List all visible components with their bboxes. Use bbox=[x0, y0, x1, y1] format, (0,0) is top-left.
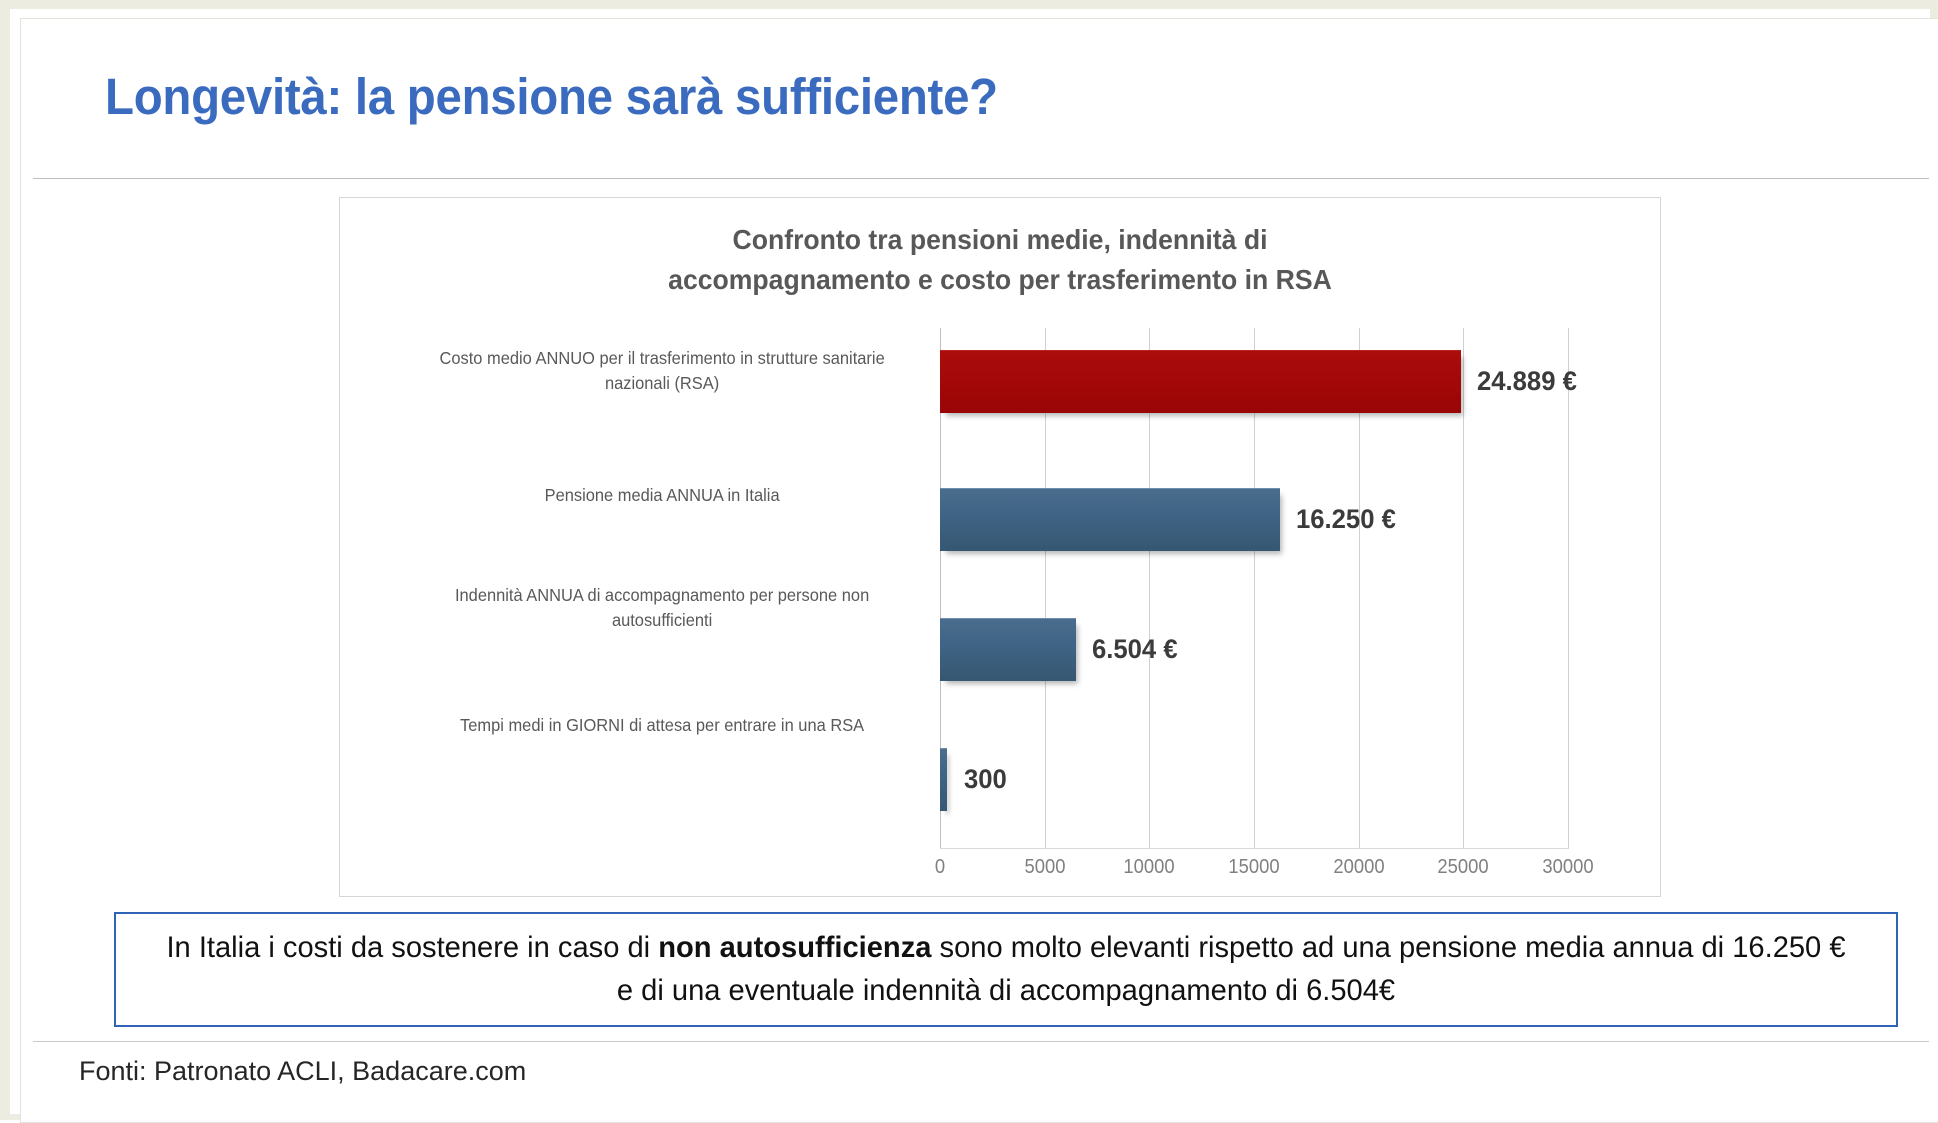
xtick-3: 15000 bbox=[1228, 856, 1279, 879]
category-label-line-2: autosufficienti bbox=[394, 608, 930, 633]
callout-text-before: In Italia i costi da sostenere in caso d… bbox=[166, 931, 658, 964]
slide-sheet: Longevità: la pensione sarà sufficiente?… bbox=[20, 18, 1938, 1123]
xtick-0: 0 bbox=[935, 856, 945, 879]
chart-title: Confronto tra pensioni medie, indennità … bbox=[430, 220, 1570, 300]
title-band: Longevità: la pensione sarà sufficiente? bbox=[33, 21, 1929, 179]
category-label-line-1: Pensione media ANNUA in Italia bbox=[394, 483, 930, 508]
gridline-30000 bbox=[1568, 328, 1569, 848]
category-label-line-1: Indennità ANNUA di accompagnamento per p… bbox=[394, 583, 930, 608]
callout-text-bold: non autosufficienza bbox=[658, 931, 931, 964]
slide-frame: Longevità: la pensione sarà sufficiente?… bbox=[0, 0, 1938, 1120]
bar-1[interactable] bbox=[940, 488, 1280, 551]
chart-title-line-1: Confronto tra pensioni medie, indennità … bbox=[430, 220, 1570, 260]
bar-value-2: 6.504 € bbox=[1092, 634, 1178, 665]
footer-sources: Fonti: Patronato ACLI, Badacare.com bbox=[79, 1056, 526, 1087]
xtick-5: 25000 bbox=[1438, 856, 1489, 879]
category-label-line-2: nazionali (RSA) bbox=[394, 371, 930, 396]
bar-0[interactable] bbox=[940, 350, 1461, 413]
chart-title-line-2: accompagnamento e costo per trasferiment… bbox=[430, 260, 1570, 300]
bar-value-0: 24.889 € bbox=[1477, 366, 1577, 397]
category-label-line-1: Tempi medi in GIORNI di attesa per entra… bbox=[394, 713, 930, 738]
xtick-2: 10000 bbox=[1124, 856, 1175, 879]
chart-category-axis: Costo medio ANNUO per il trasferimento i… bbox=[348, 328, 940, 848]
chart-x-axis-line bbox=[940, 848, 1569, 849]
chart-category-label-1: Pensione media ANNUA in Italia bbox=[394, 483, 930, 508]
chart-category-label-2: Indennità ANNUA di accompagnamento per p… bbox=[394, 583, 930, 634]
callout-text: In Italia i costi da sostenere in caso d… bbox=[162, 927, 1850, 1012]
category-label-line-1: Costo medio ANNUO per il trasferimento i… bbox=[394, 346, 930, 371]
page-title: Longevità: la pensione sarà sufficiente? bbox=[105, 67, 998, 126]
xtick-4: 20000 bbox=[1333, 856, 1384, 879]
chart-x-tick-labels: 0 5000 10000 15000 20000 25000 30000 bbox=[940, 856, 1569, 890]
bar-3[interactable] bbox=[940, 748, 947, 811]
chart-bars-area: 24.889 € 16.250 € 6.504 € 300 bbox=[940, 328, 1568, 848]
chart-plot-area: Costo medio ANNUO per il trasferimento i… bbox=[340, 328, 1662, 896]
gridline-25000 bbox=[1463, 328, 1464, 848]
chart-container: Confronto tra pensioni medie, indennità … bbox=[339, 197, 1661, 897]
footer-divider bbox=[33, 1041, 1929, 1042]
bar-2[interactable] bbox=[940, 618, 1076, 681]
callout-box: In Italia i costi da sostenere in caso d… bbox=[114, 912, 1898, 1027]
xtick-1: 5000 bbox=[1024, 856, 1065, 879]
bar-value-1: 16.250 € bbox=[1296, 504, 1396, 535]
chart-category-label-0: Costo medio ANNUO per il trasferimento i… bbox=[394, 346, 930, 397]
bar-value-3: 300 bbox=[964, 764, 1007, 795]
xtick-6: 30000 bbox=[1542, 856, 1593, 879]
chart-category-label-3: Tempi medi in GIORNI di attesa per entra… bbox=[394, 713, 930, 738]
